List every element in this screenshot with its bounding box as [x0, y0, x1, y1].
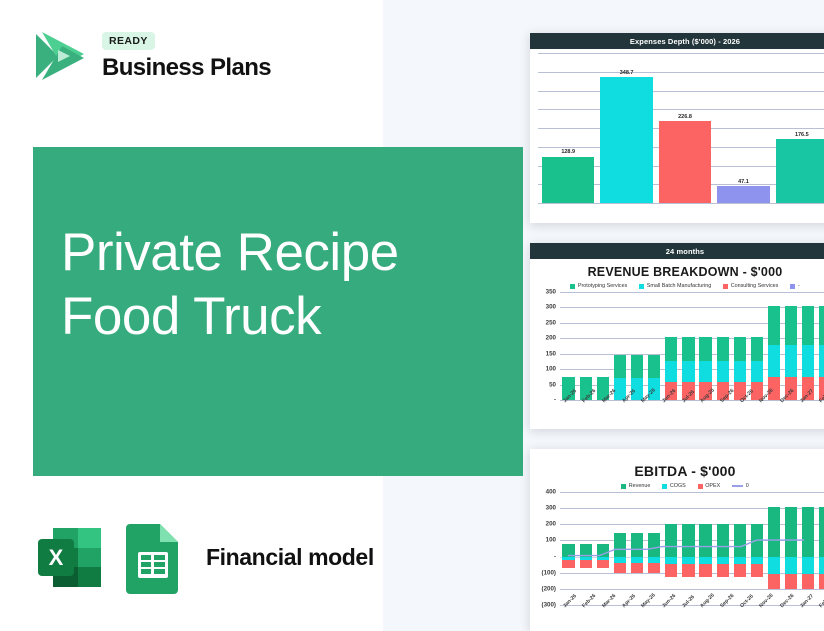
- chart-card-ebitda[interactable]: EBITDA - $'000 RevenueCOGSOPEX0 40030020…: [530, 449, 824, 631]
- bar-column[interactable]: [766, 292, 783, 400]
- bar-segment[interactable]: [768, 306, 780, 345]
- bar-column[interactable]: [560, 292, 577, 400]
- bar-segment[interactable]: [734, 361, 746, 383]
- legend-label: OPEX: [705, 483, 720, 489]
- legend-label: COGS: [670, 483, 686, 489]
- chart-title-revenue: REVENUE BREAKDOWN - $'000: [530, 265, 824, 279]
- bar-column[interactable]: [629, 292, 646, 400]
- bar-segment[interactable]: [682, 337, 694, 361]
- svg-text:X: X: [49, 545, 64, 570]
- y-axis-tick-label: 250: [534, 319, 556, 326]
- negative-stack: [819, 557, 824, 590]
- y-axis-tick-label: 200: [534, 335, 556, 342]
- legend-color-swatch: [723, 284, 728, 289]
- x-axis-labels: Jan-26Feb-26Mar-26Apr-26May-26Jun-26Jul-…: [560, 402, 824, 408]
- bar-column[interactable]: 348.7: [600, 53, 652, 203]
- bar-segment[interactable]: [819, 574, 824, 590]
- bar-series-expenses: 128.9348.7226.847.1176.5: [538, 53, 824, 203]
- brand-text-group: READY Business Plans: [102, 31, 271, 82]
- legend-line-swatch: [732, 485, 743, 487]
- positive-stack: [819, 306, 824, 400]
- bar-column[interactable]: [817, 492, 824, 605]
- play-triangle-logo-icon: [28, 30, 90, 82]
- chart-card-expenses[interactable]: Expenses Depth ($'000) - 2026 128.9348.7…: [530, 33, 824, 223]
- bar-column[interactable]: [680, 292, 697, 400]
- positive-stack: [768, 306, 780, 400]
- chart-titlebar-revenue: 24 months: [530, 243, 824, 259]
- legend-item[interactable]: 0: [732, 483, 749, 489]
- gridline: [538, 203, 824, 204]
- bar-column[interactable]: 176.5: [776, 53, 824, 203]
- footer-file-formats: X Financial model: [33, 521, 374, 594]
- y-axis-tick-label: 350: [534, 289, 556, 296]
- legend-label: Prototyping Services: [578, 283, 627, 289]
- bar-segment[interactable]: [768, 345, 780, 377]
- bar-segment[interactable]: [802, 345, 814, 377]
- bar-segment[interactable]: [751, 337, 763, 361]
- bar-segment[interactable]: [819, 507, 824, 556]
- y-axis-tick-label: 400: [534, 489, 556, 496]
- bar[interactable]: [600, 77, 652, 203]
- bar-column[interactable]: 128.9: [542, 53, 594, 203]
- y-axis-tick-label: 300: [534, 505, 556, 512]
- bar-segment[interactable]: [802, 306, 814, 345]
- bar-segment[interactable]: [785, 345, 797, 377]
- bar-column[interactable]: [594, 292, 611, 400]
- bar[interactable]: [542, 157, 594, 203]
- legend-color-swatch: [662, 484, 667, 489]
- bar-segment[interactable]: [699, 361, 711, 383]
- bar-segment[interactable]: [648, 355, 660, 378]
- y-axis-tick-label: -: [534, 553, 556, 560]
- bar-column[interactable]: [783, 292, 800, 400]
- microsoft-excel-icon: X: [33, 521, 106, 594]
- legend-item[interactable]: COGS: [662, 483, 685, 489]
- legend-item[interactable]: OPEX: [698, 483, 720, 489]
- bar[interactable]: [717, 186, 769, 203]
- bar-segment[interactable]: [819, 557, 824, 574]
- legend-item[interactable]: Consulting Services: [723, 283, 778, 289]
- legend-label: Revenue: [629, 483, 651, 489]
- financial-model-label: Financial model: [206, 544, 374, 571]
- bar-segment[interactable]: [819, 306, 824, 345]
- bar[interactable]: [776, 139, 824, 203]
- bar-column[interactable]: [646, 292, 663, 400]
- y-axis-tick-label: (200): [534, 585, 556, 592]
- hero-band: Private Recipe Food Truck: [33, 147, 523, 476]
- left-content-panel: READY Business Plans Private Recipe Food…: [0, 0, 420, 631]
- y-axis-tick-label: 300: [534, 304, 556, 311]
- bar-column[interactable]: [817, 292, 824, 400]
- y-axis-tick-label: 150: [534, 350, 556, 357]
- legend-color-swatch: [570, 284, 575, 289]
- legend-item[interactable]: Revenue: [621, 483, 650, 489]
- brand-lockup: READY Business Plans: [28, 30, 271, 82]
- bar-segment[interactable]: [785, 306, 797, 345]
- y-axis-tick-label: 100: [534, 537, 556, 544]
- bar-segment[interactable]: [614, 355, 626, 378]
- bar-segment[interactable]: [717, 337, 729, 361]
- bar-segment[interactable]: [665, 337, 677, 361]
- bar-value-label: 226.8: [678, 114, 692, 120]
- bar-column[interactable]: 226.8: [659, 53, 711, 203]
- legend-label: -: [798, 283, 800, 289]
- positive-stack: [802, 306, 814, 400]
- y-axis-tick-label: 100: [534, 366, 556, 373]
- chart-titlebar-expenses: Expenses Depth ($'000) - 2026: [530, 33, 824, 49]
- brand-name: Business Plans: [102, 54, 271, 82]
- legend-label: Consulting Services: [731, 283, 779, 289]
- legend-label: 0: [746, 483, 749, 489]
- bar-column[interactable]: [731, 292, 748, 400]
- legend-color-swatch: [639, 284, 644, 289]
- stacked-bar-series: [560, 292, 824, 400]
- bar-segment[interactable]: [717, 361, 729, 383]
- legend-color-swatch: [790, 284, 795, 289]
- bar-column[interactable]: [577, 292, 594, 400]
- ready-badge: READY: [102, 32, 155, 50]
- chart-plot-revenue: 35030025020015010050-Jan-26Feb-26Mar-26A…: [534, 292, 824, 400]
- legend-label: Small Batch Manufacturing: [647, 283, 711, 289]
- positive-stack: [819, 507, 824, 556]
- positive-stack: [785, 306, 797, 400]
- chart-plot-ebitda: 400300200100-(100)(200)(300)Jan-26Feb-26…: [534, 492, 824, 605]
- chart-legend-revenue: Prototyping ServicesSmall Batch Manufact…: [530, 283, 824, 289]
- bar-segment[interactable]: [699, 337, 711, 361]
- bar-segment[interactable]: [734, 337, 746, 361]
- bar-column[interactable]: [748, 292, 765, 400]
- x-axis-labels: Jan-26Feb-26Mar-26Apr-26May-26Jun-26Jul-…: [560, 607, 824, 613]
- y-axis-tick-label: -: [534, 397, 556, 404]
- bar-segment[interactable]: [819, 345, 824, 377]
- chart-legend-ebitda: RevenueCOGSOPEX0: [530, 483, 824, 489]
- bar-value-label: 176.5: [795, 132, 809, 138]
- legend-item[interactable]: Prototyping Services: [570, 283, 627, 289]
- bar-column[interactable]: [663, 292, 680, 400]
- bar-value-label: 348.7: [620, 70, 634, 76]
- y-axis-tick-label: (100): [534, 569, 556, 576]
- bar-column[interactable]: [611, 292, 628, 400]
- chart-card-revenue-breakdown[interactable]: 24 months REVENUE BREAKDOWN - $'000 Prot…: [530, 243, 824, 429]
- chart-plot-expenses: 128.9348.7226.847.1176.5: [538, 53, 824, 203]
- bar-value-label: 47.1: [738, 179, 749, 185]
- chart-title-ebitda: EBITDA - $'000: [530, 463, 824, 479]
- y-axis-tick-label: 200: [534, 521, 556, 528]
- legend-color-swatch: [698, 484, 703, 489]
- bar-column[interactable]: 47.1: [717, 53, 769, 203]
- legend-color-swatch: [621, 484, 626, 489]
- bar-segment[interactable]: [631, 355, 643, 378]
- legend-item[interactable]: -: [790, 283, 799, 289]
- bar-segment[interactable]: [665, 361, 677, 383]
- bar-column[interactable]: [714, 292, 731, 400]
- bar-segment[interactable]: [751, 361, 763, 383]
- line-series-overlay: [560, 492, 812, 605]
- bar[interactable]: [659, 121, 711, 203]
- legend-item[interactable]: Small Batch Manufacturing: [639, 283, 711, 289]
- page-title: Private Recipe Food Truck: [61, 221, 399, 349]
- bar-segment[interactable]: [682, 361, 694, 383]
- bar-column[interactable]: [697, 292, 714, 400]
- google-sheets-icon: [124, 522, 184, 594]
- bar-column[interactable]: [800, 292, 817, 400]
- y-axis-tick-label: (300): [534, 602, 556, 609]
- positive-stack: [734, 337, 746, 400]
- y-axis-tick-label: 50: [534, 381, 556, 388]
- bar-value-label: 128.9: [561, 149, 575, 155]
